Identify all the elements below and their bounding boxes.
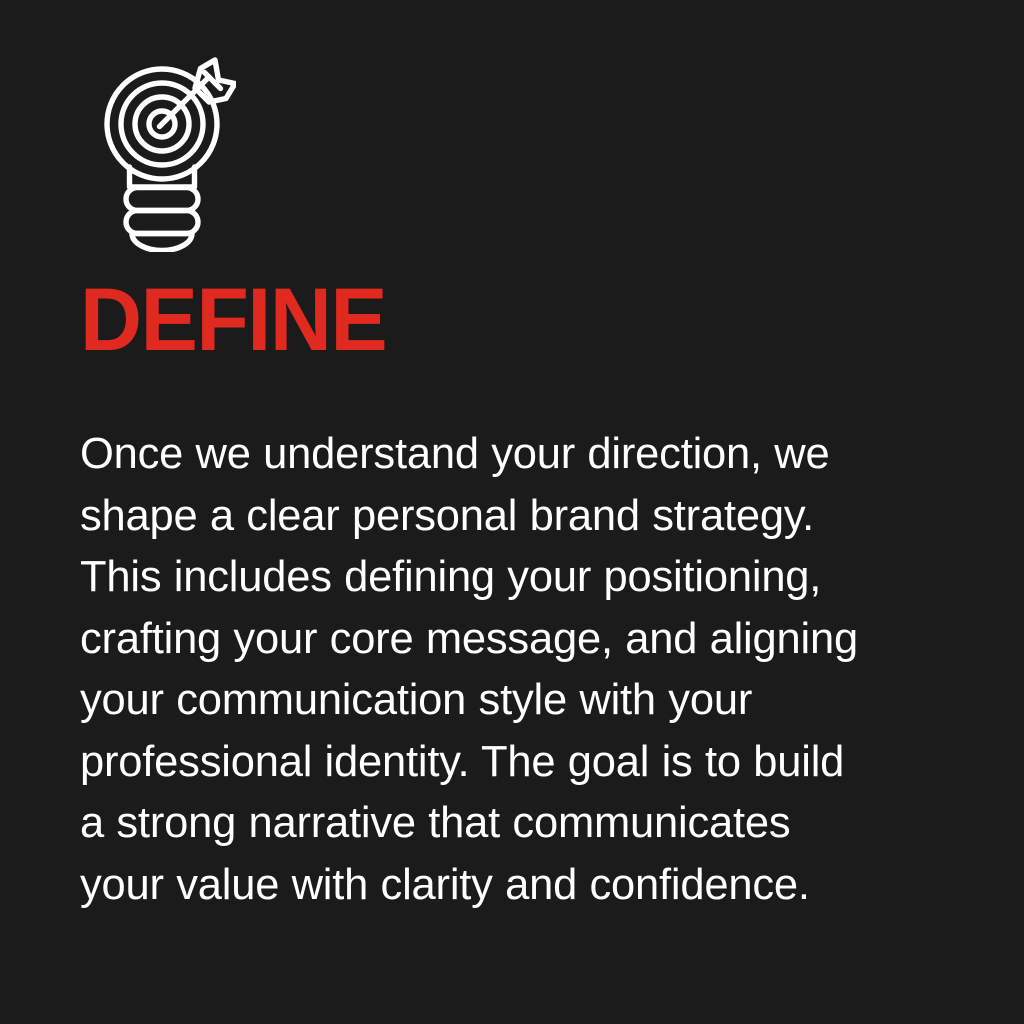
- body-line: your communication style with your: [80, 670, 900, 732]
- body-line: Once we understand your direction, we: [80, 424, 900, 486]
- slide-canvas: DEFINE Once we understand your direction…: [0, 0, 1024, 1024]
- body-line: professional identity. The goal is to bu…: [80, 732, 900, 794]
- body-paragraph: Once we understand your direction, we sh…: [80, 424, 900, 916]
- lightbulb-target-arrow-icon: [96, 56, 236, 252]
- body-line: your value with clarity and confidence.: [80, 855, 900, 917]
- body-line: a strong narrative that communicates: [80, 793, 900, 855]
- bulb-base-cap: [132, 234, 192, 251]
- bulb-thread-band-1: [126, 188, 198, 211]
- body-line: crafting your core message, and aligning: [80, 609, 900, 671]
- page-title: DEFINE: [80, 275, 386, 364]
- lightbulb-target-arrow-glyph: [96, 56, 236, 252]
- bulb-thread-band-2: [126, 211, 198, 234]
- body-line: This includes defining your positioning,: [80, 547, 900, 609]
- body-line: shape a clear personal brand strategy.: [80, 486, 900, 548]
